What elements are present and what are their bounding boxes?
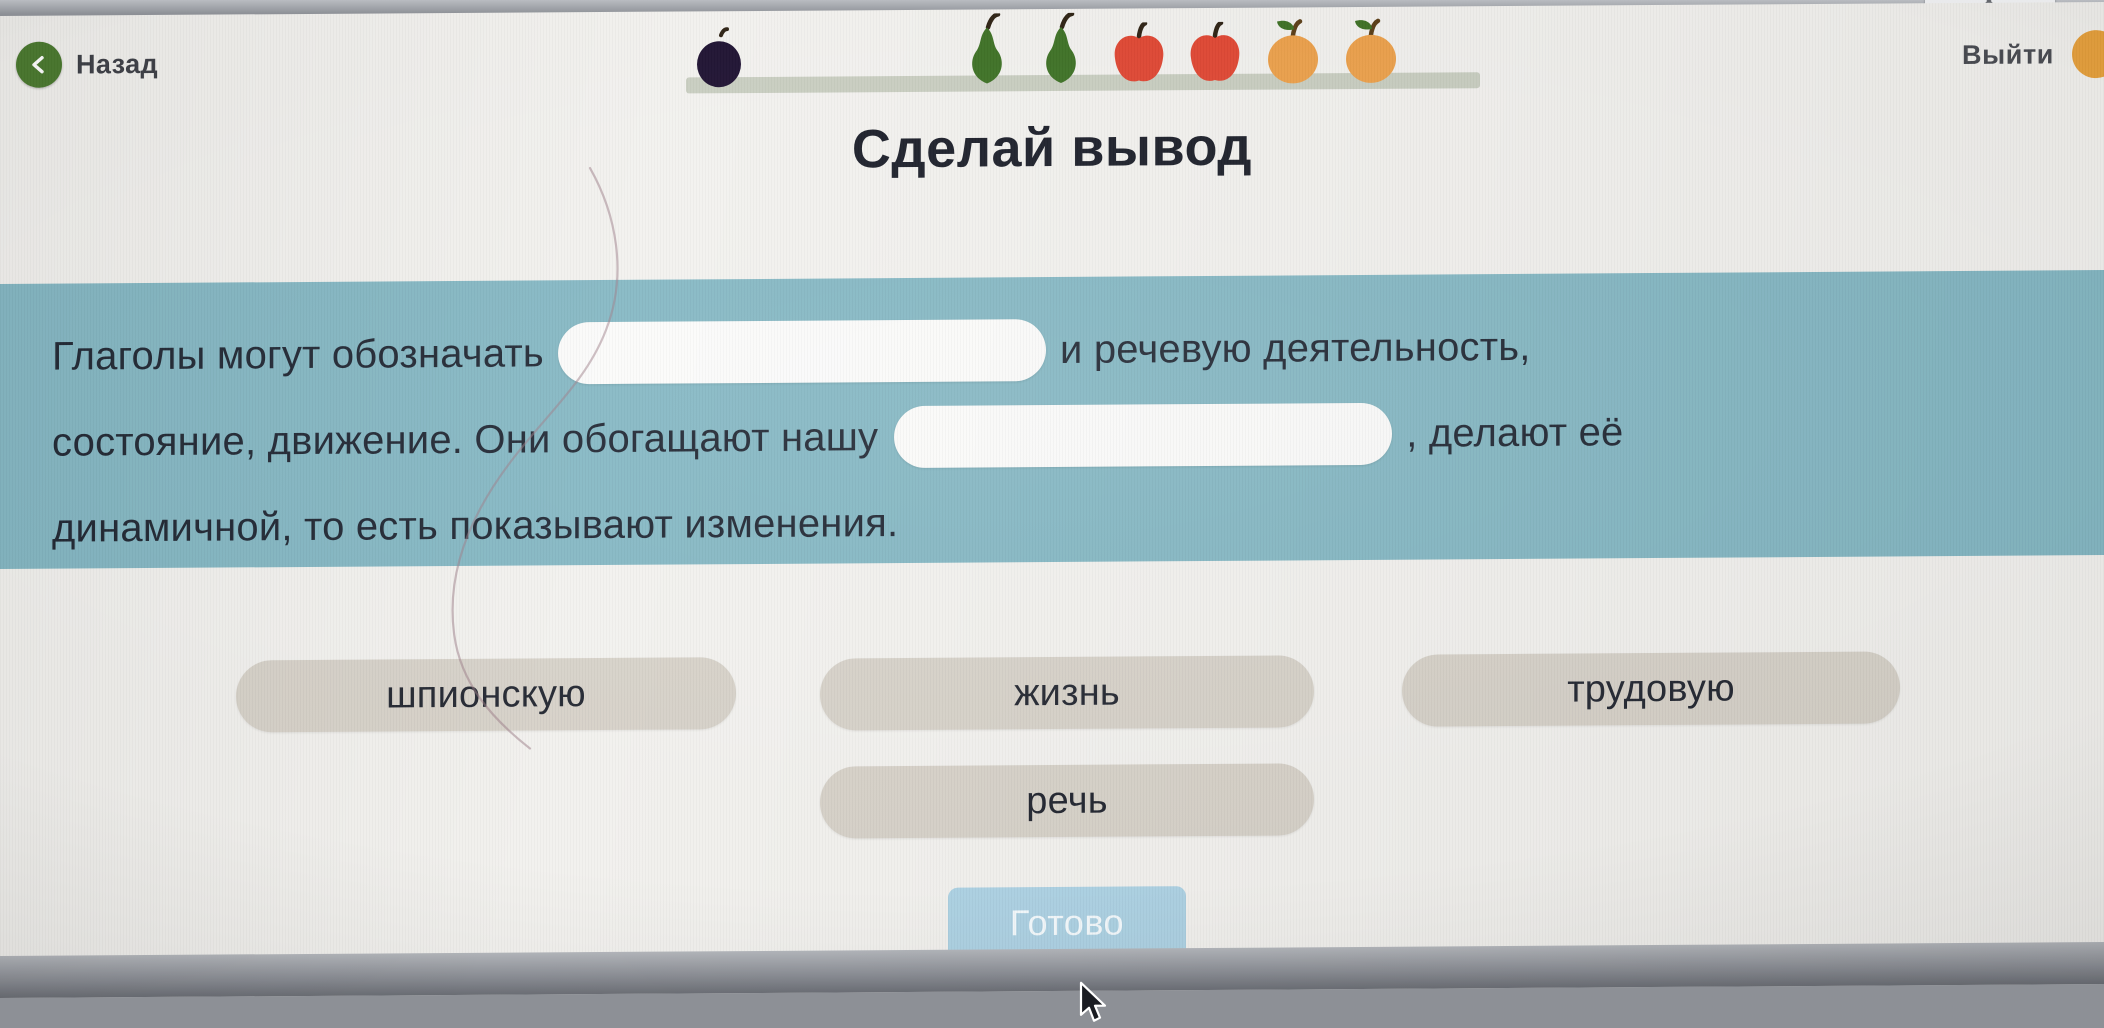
- sentence-text-2b: , делают её: [1406, 410, 1623, 456]
- answer-chip-trudovuyu[interactable]: трудовую: [1402, 651, 1900, 726]
- apple-icon: [1186, 22, 1244, 86]
- progress-bar: [686, 72, 1480, 93]
- sentence-text-1b: и речевую деятельность,: [1060, 324, 1531, 372]
- app-header: Назад Выйти: [0, 2, 2104, 128]
- page-title: Сделай вывод: [0, 110, 2104, 186]
- peach-icon: [1264, 17, 1322, 85]
- answer-chip-shpionskuyu[interactable]: шпионскую: [236, 657, 736, 732]
- answer-options: шпионскую жизнь трудовую речь: [0, 622, 2104, 836]
- sentence-text-2a: состояние, движение. Они обогащают нашу: [52, 415, 878, 465]
- sentence-line-2: состояние, движение. Они обогащают нашу …: [52, 386, 2052, 485]
- chevron-left-icon: [16, 42, 62, 88]
- answer-chip-rech[interactable]: речь: [820, 763, 1314, 838]
- answer-slot-1[interactable]: [558, 319, 1046, 384]
- app-screen: Назад Выйти: [0, 2, 2104, 998]
- sentence-text-1a: Глаголы могут обозначать: [52, 331, 544, 379]
- exit-button[interactable]: Выйти: [1962, 30, 2098, 79]
- screen-bottom-bezel: [0, 942, 2104, 998]
- photo-frame: ✕ Назад Выйти: [0, 0, 2104, 1028]
- back-button-label: Назад: [76, 48, 158, 80]
- avatar-circle-icon: [2072, 30, 2104, 78]
- conclusion-sentence-block: Глаголы могут обозначать и речевую деяте…: [0, 270, 2104, 569]
- pear-icon: [960, 13, 1014, 87]
- back-button[interactable]: Назад: [16, 41, 158, 88]
- plum-icon: [692, 27, 748, 89]
- apple-icon: [1110, 22, 1168, 86]
- peach-icon: [1342, 17, 1400, 85]
- sentence-line-3: динамичной, то есть показывают изменения…: [52, 472, 2052, 571]
- answer-slot-2[interactable]: [894, 403, 1392, 468]
- exit-button-label: Выйти: [1962, 39, 2054, 71]
- answer-chip-zhizn[interactable]: жизнь: [820, 655, 1314, 730]
- sentence-text-3a: динамичной, то есть показывают изменения…: [52, 501, 898, 552]
- sentence-line-1: Глаголы могут обозначать и речевую деяте…: [52, 300, 2052, 399]
- pear-icon: [1034, 13, 1088, 87]
